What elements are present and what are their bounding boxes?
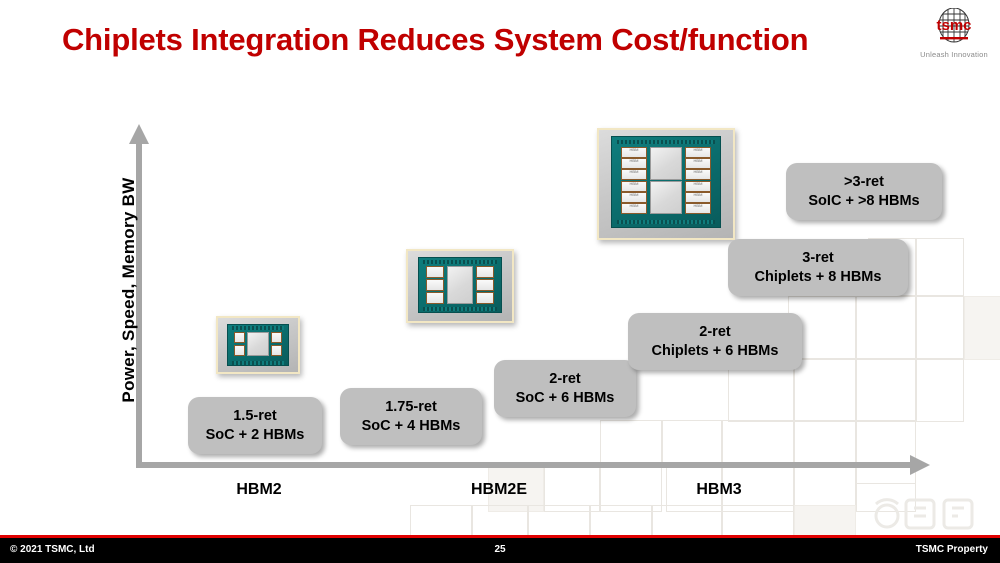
hbm-stack: HBM bbox=[621, 169, 647, 180]
watermark-cell bbox=[794, 505, 856, 537]
hbm-stack: HBM bbox=[621, 203, 647, 214]
bump-row-bottom bbox=[423, 307, 497, 311]
hbm-stack: HBM bbox=[621, 147, 647, 158]
callout-1-75-ret[interactable]: 1.75-ret SoC + 4 HBMs bbox=[340, 388, 482, 445]
watermark-cell bbox=[856, 462, 916, 512]
watermark-cell bbox=[722, 420, 794, 466]
tsmc-wafer-icon: tsmc bbox=[926, 8, 982, 48]
hbm-stack: HBM bbox=[621, 192, 647, 203]
watermark-cell bbox=[916, 358, 964, 422]
package-large: HBM HBM HBM HBM HBM HBM HBM HBM HBM HBM … bbox=[597, 128, 735, 240]
tsmc-tagline: Unleash Innovation bbox=[908, 50, 1000, 59]
watermark-cell bbox=[916, 296, 964, 360]
callout-line2: SoC + 4 HBMs bbox=[362, 417, 461, 436]
footer-bar: © 2021 TSMC, Ltd 25 TSMC Property bbox=[0, 538, 1000, 563]
bump-row-top bbox=[423, 260, 497, 264]
callout-line1: 1.5-ret bbox=[233, 407, 277, 426]
watermark-cell bbox=[794, 420, 856, 466]
package-medium bbox=[406, 249, 514, 323]
callout-2-ret-chiplets[interactable]: 2-ret Chiplets + 6 HBMs bbox=[628, 313, 802, 370]
watermark-cell bbox=[722, 505, 794, 537]
package-small bbox=[216, 316, 300, 374]
hbm-stack: HBM bbox=[685, 147, 711, 158]
watermark-cell bbox=[856, 420, 916, 484]
watermark-cell bbox=[662, 420, 722, 466]
page-title: Chiplets Integration Reduces System Cost… bbox=[62, 22, 892, 58]
tsmc-logo: tsmc Unleash Innovation bbox=[908, 8, 1000, 66]
watermark-cell bbox=[856, 358, 916, 422]
watermark-cell bbox=[916, 238, 964, 296]
slide-canvas: Chiplets Integration Reduces System Cost… bbox=[0, 0, 1000, 563]
bump-row-top bbox=[232, 326, 284, 330]
watermark-cell bbox=[794, 358, 856, 422]
soc-die bbox=[447, 266, 473, 304]
hbm-stack: HBM bbox=[685, 169, 711, 180]
svg-text:tsmc: tsmc bbox=[936, 17, 971, 34]
hbm-stack bbox=[476, 292, 494, 304]
callout-line2: SoIC + >8 HBMs bbox=[808, 192, 919, 211]
callout-gt3-ret-soic[interactable]: >3-ret SoIC + >8 HBMs bbox=[786, 163, 942, 220]
hbm-stack bbox=[476, 266, 494, 278]
y-axis-label: Power, Speed, Memory BW bbox=[119, 125, 139, 455]
footer-property: TSMC Property bbox=[916, 544, 988, 555]
watermark-cell bbox=[528, 505, 590, 537]
hbm-stack bbox=[426, 279, 444, 291]
chiplet-die bbox=[650, 147, 682, 180]
callout-1-5-ret[interactable]: 1.5-ret SoC + 2 HBMs bbox=[188, 397, 322, 454]
watermark-cell bbox=[964, 296, 1000, 360]
hbm-stack: HBM bbox=[685, 158, 711, 169]
watermark-cell bbox=[472, 505, 528, 537]
hbm-stack: HBM bbox=[685, 203, 711, 214]
callout-line2: SoC + 2 HBMs bbox=[206, 426, 305, 445]
callout-3-ret-chiplets[interactable]: 3-ret Chiplets + 8 HBMs bbox=[728, 239, 908, 296]
watermark-cell bbox=[590, 505, 652, 537]
bump-row-bottom bbox=[617, 220, 715, 224]
callout-line2: SoC + 6 HBMs bbox=[516, 389, 615, 408]
watermark-cell bbox=[410, 505, 472, 537]
callout-line1: >3-ret bbox=[844, 173, 884, 192]
callout-2-ret-soc[interactable]: 2-ret SoC + 6 HBMs bbox=[494, 360, 636, 417]
watermark-cell bbox=[652, 505, 722, 537]
hbm-stack: HBM bbox=[685, 192, 711, 203]
watermark-cell bbox=[856, 296, 916, 360]
bump-row-bottom bbox=[232, 361, 284, 365]
hbm-stack bbox=[476, 279, 494, 291]
callout-line2: Chiplets + 6 HBMs bbox=[652, 342, 779, 361]
x-tick-hbm2: HBM2 bbox=[192, 481, 326, 499]
hbm-stack: HBM bbox=[621, 181, 647, 192]
hbm-stack: HBM bbox=[685, 181, 711, 192]
x-axis-line bbox=[136, 462, 914, 468]
watermark-logo bbox=[862, 482, 982, 534]
watermark-cell bbox=[600, 420, 662, 466]
footer-page-number: 25 bbox=[0, 544, 1000, 555]
soc-die bbox=[247, 332, 269, 356]
callout-line1: 2-ret bbox=[699, 323, 730, 342]
callout-line2: Chiplets + 8 HBMs bbox=[755, 268, 882, 287]
hbm-stack bbox=[234, 332, 245, 343]
hbm-stack bbox=[234, 345, 245, 356]
x-axis-arrowhead-icon bbox=[910, 455, 930, 475]
callout-line1: 2-ret bbox=[549, 370, 580, 389]
x-tick-hbm2e: HBM2E bbox=[432, 481, 566, 499]
hbm-stack bbox=[271, 345, 282, 356]
chiplet-die bbox=[650, 181, 682, 214]
hbm-stack bbox=[426, 292, 444, 304]
x-tick-hbm3: HBM3 bbox=[652, 481, 786, 499]
callout-line1: 1.75-ret bbox=[385, 398, 437, 417]
hbm-stack: HBM bbox=[621, 158, 647, 169]
hbm-stack bbox=[426, 266, 444, 278]
hbm-stack bbox=[271, 332, 282, 343]
bump-row-top bbox=[617, 140, 715, 144]
watermark-cell bbox=[794, 462, 856, 512]
callout-line1: 3-ret bbox=[802, 249, 833, 268]
